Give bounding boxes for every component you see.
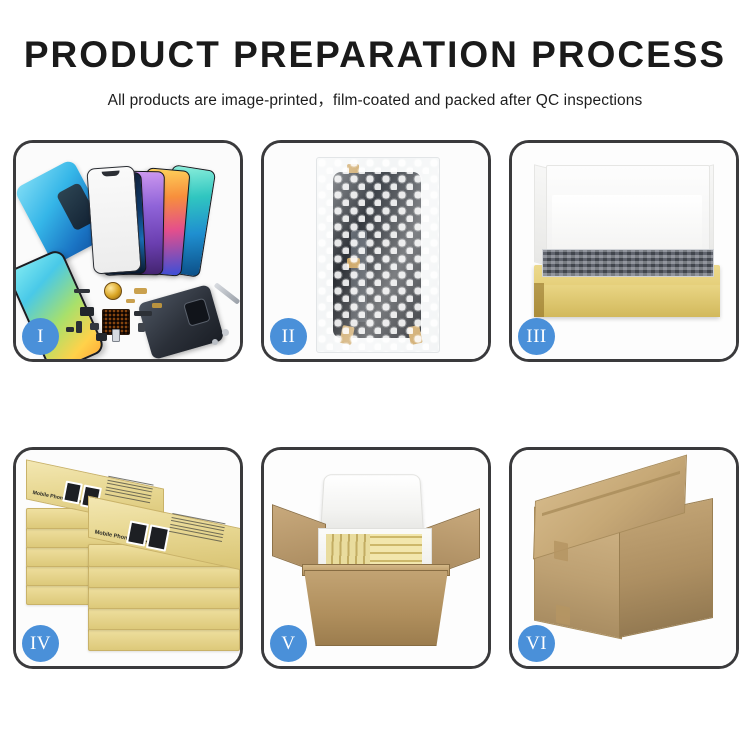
box-stack-group: Mobile Phone Spare Parts Mobile Phone Sp… [24, 474, 236, 654]
carton-tape-tab [556, 605, 570, 626]
part-bit-icon [76, 321, 82, 333]
process-step-5[interactable]: V [261, 447, 491, 669]
screw-icon [212, 339, 218, 345]
process-step-6[interactable]: VI [509, 447, 739, 669]
part-bit-icon [112, 329, 120, 342]
process-row-2: Mobile Phone Spare Parts Mobile Phone Sp… [13, 447, 739, 669]
product-preparation-infographic: PRODUCT PREPARATION PROCESS All products… [0, 0, 750, 750]
process-step-grid: I II [13, 140, 739, 669]
copper-coil-icon [104, 282, 122, 300]
part-bit-icon [134, 311, 152, 316]
phone-fan-group [88, 157, 238, 275]
step-badge-6: VI [518, 625, 555, 662]
step-badge-1: I [22, 318, 59, 355]
page-title: PRODUCT PREPARATION PROCESS [0, 36, 750, 75]
process-step-1[interactable]: I [13, 140, 243, 362]
header: PRODUCT PREPARATION PROCESS All products… [0, 36, 750, 110]
yellow-box-tray-icon [534, 265, 720, 317]
part-bit-icon [152, 303, 162, 308]
step-badge-3: III [518, 318, 555, 355]
step-badge-2: II [270, 318, 307, 355]
bubble-wrapped-contents [542, 249, 714, 277]
part-bit-icon [96, 333, 107, 341]
step-badge-5: V [270, 625, 307, 662]
part-bit-icon [126, 299, 135, 303]
bubble-wrap-bag-icon [316, 157, 440, 353]
part-bit-icon [74, 289, 90, 293]
part-bit-icon [80, 307, 94, 316]
stacked-box [88, 628, 240, 651]
box-front-face [534, 285, 720, 317]
stacked-box [88, 565, 240, 588]
part-bit-icon [134, 288, 147, 294]
bag-sheen [317, 158, 439, 352]
part-bit-icon [138, 323, 145, 332]
process-row-1: I II [13, 140, 739, 362]
screen-glass-icon [86, 165, 141, 274]
carton-front-face [304, 570, 448, 646]
part-bit-icon [66, 327, 74, 332]
stacked-box [88, 607, 240, 630]
foam-cooler-lid-icon [320, 474, 424, 534]
process-step-4[interactable]: Mobile Phone Spare Parts Mobile Phone Sp… [13, 447, 243, 669]
step-badge-4: IV [22, 625, 59, 662]
process-step-3[interactable]: III [509, 140, 739, 362]
box-left-edge [534, 283, 544, 317]
page-subtitle: All products are image-printed，film-coat… [0, 88, 750, 110]
screw-icon [222, 329, 229, 336]
process-step-2[interactable]: II [261, 140, 491, 362]
part-bit-icon [90, 323, 99, 330]
stacked-box [88, 586, 240, 609]
carton-tape-tab [554, 541, 568, 562]
